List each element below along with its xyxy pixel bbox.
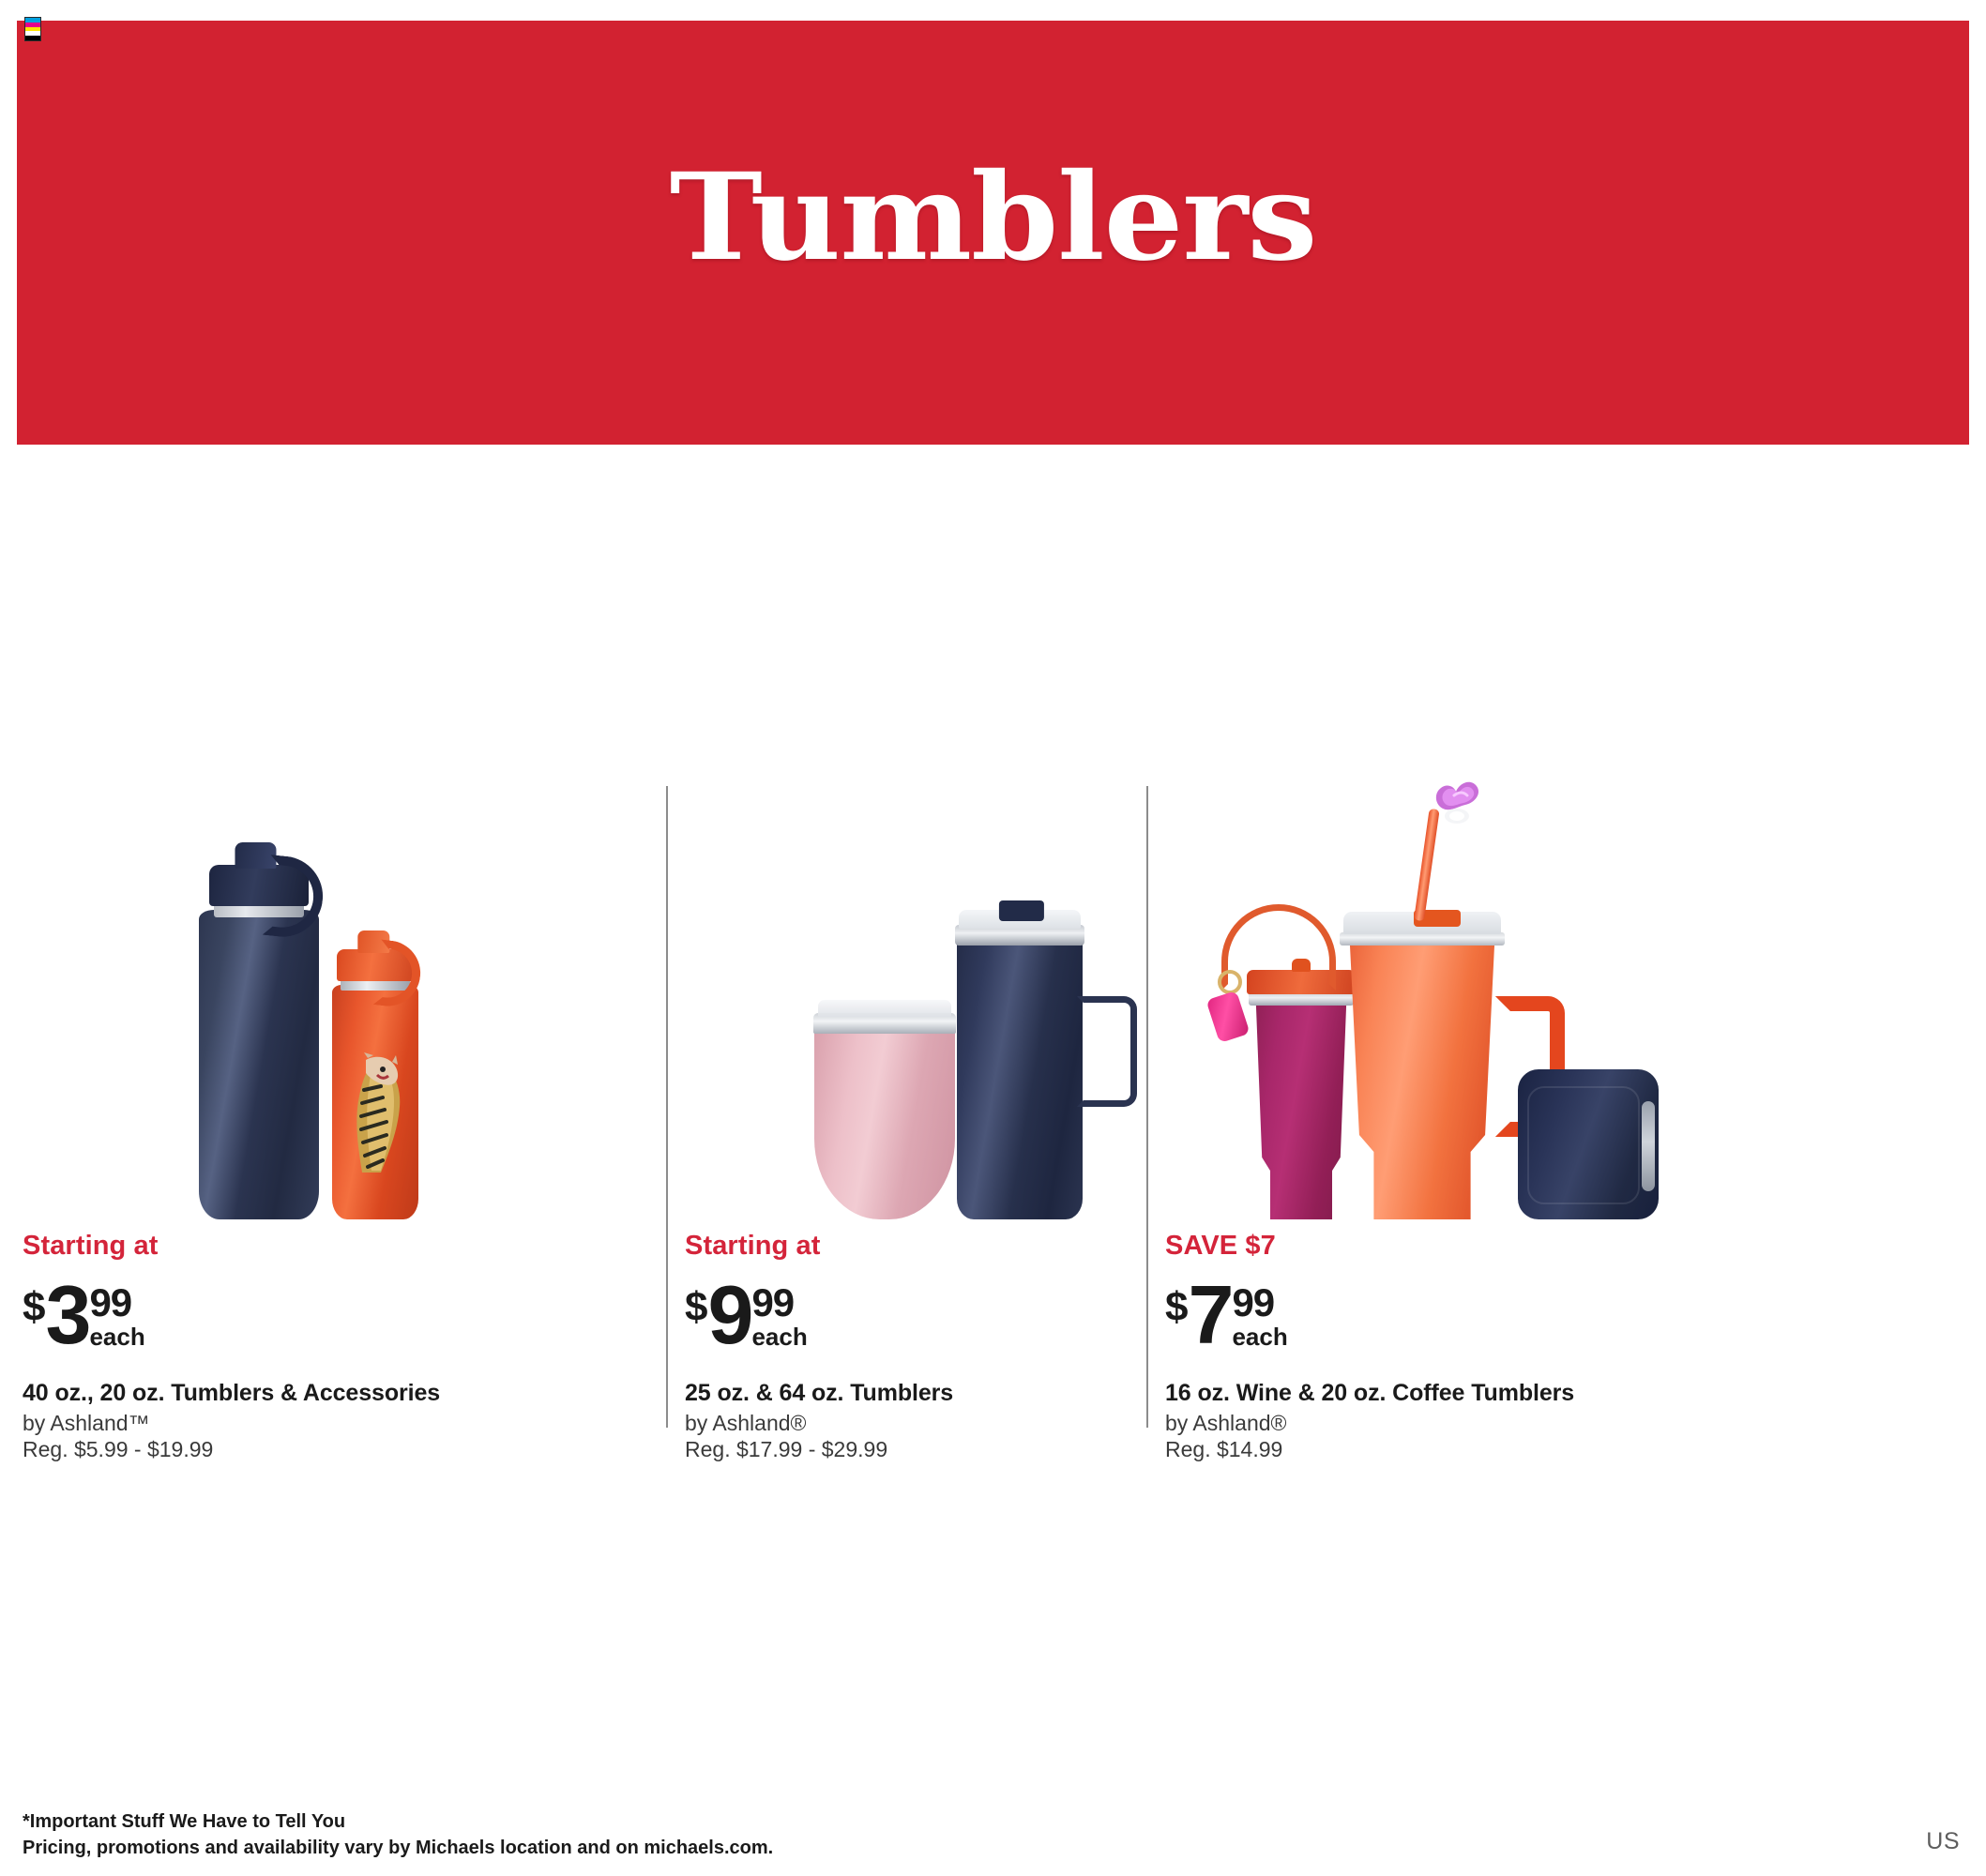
price-block: $ 3 99 each [23,1279,660,1360]
product-card-3[interactable]: SAVE $7 $ 7 99 each 16 oz. Wine & 20 oz.… [1146,657,1794,1501]
price-whole: 7 [1188,1279,1231,1351]
product-card-1[interactable]: Starting at $ 3 99 each 40 oz., 20 oz. T… [23,657,670,1501]
promo-label: SAVE $7 [1165,1231,1803,1262]
tiger-graphic-icon [340,1052,413,1184]
price-whole: 9 [707,1279,750,1351]
price-unit: each [89,1324,144,1349]
product-regular-price: Reg. $5.99 - $19.99 [23,1436,660,1462]
flyer-page: Tumblers [0,0,1986,1876]
cmyk-registration-bar-icon [24,17,41,41]
locale-marker: US [1926,1828,1960,1855]
product-copy-1: Starting at $ 3 99 each 40 oz., 20 oz. T… [23,1231,660,1462]
product-copy-3: SAVE $7 $ 7 99 each 16 oz. Wine & 20 oz.… [1165,1231,1803,1462]
keychain-icon [1208,970,1261,1051]
product-image-1 [23,657,670,1219]
hero-banner: Tumblers [17,21,1969,445]
navy-tall-mug-icon [957,938,1083,1219]
price-unit: each [751,1324,807,1349]
footer-disclaimer: Pricing, promotions and availability var… [23,1838,1336,1859]
straw-topper-icon [1426,767,1488,825]
price-unit: each [1232,1324,1287,1349]
product-image-3 [1146,657,1794,1219]
price-dollar-sign: $ [685,1287,707,1328]
navy-40oz-water-bottle-icon [199,910,319,1219]
product-grid: Starting at $ 3 99 each 40 oz., 20 oz. T… [0,657,1986,1501]
product-regular-price: Reg. $14.99 [1165,1436,1803,1462]
navy-zip-pouch-icon [1518,1069,1659,1219]
price-cents: 99 [89,1285,144,1321]
price-cents: 99 [1232,1285,1287,1321]
pink-wine-tumbler-icon [814,1024,955,1219]
product-brand: by Ashland™ [23,1410,660,1436]
mug-handle-icon [1077,996,1137,1107]
product-brand: by Ashland® [1165,1410,1803,1436]
legal-footer: *Important Stuff We Have to Tell You Pri… [23,1811,1336,1859]
product-name: 16 oz. Wine & 20 oz. Coffee Tumblers [1165,1380,1803,1407]
price-cents: 99 [751,1285,807,1321]
orange-20oz-tiger-bottle-icon [332,985,418,1219]
price-whole: 3 [45,1279,88,1351]
magenta-tumbler-icon [1250,998,1353,1219]
price-dollar-sign: $ [23,1287,45,1328]
promo-label: Starting at [23,1231,660,1262]
price-dollar-sign: $ [1165,1287,1188,1328]
coral-tumbler-icon [1342,938,1503,1219]
page-title: Tumblers [670,158,1317,278]
price-block: $ 7 99 each [1165,1279,1803,1360]
product-name: 40 oz., 20 oz. Tumblers & Accessories [23,1380,660,1407]
footer-heading: *Important Stuff We Have to Tell You [23,1811,1336,1833]
